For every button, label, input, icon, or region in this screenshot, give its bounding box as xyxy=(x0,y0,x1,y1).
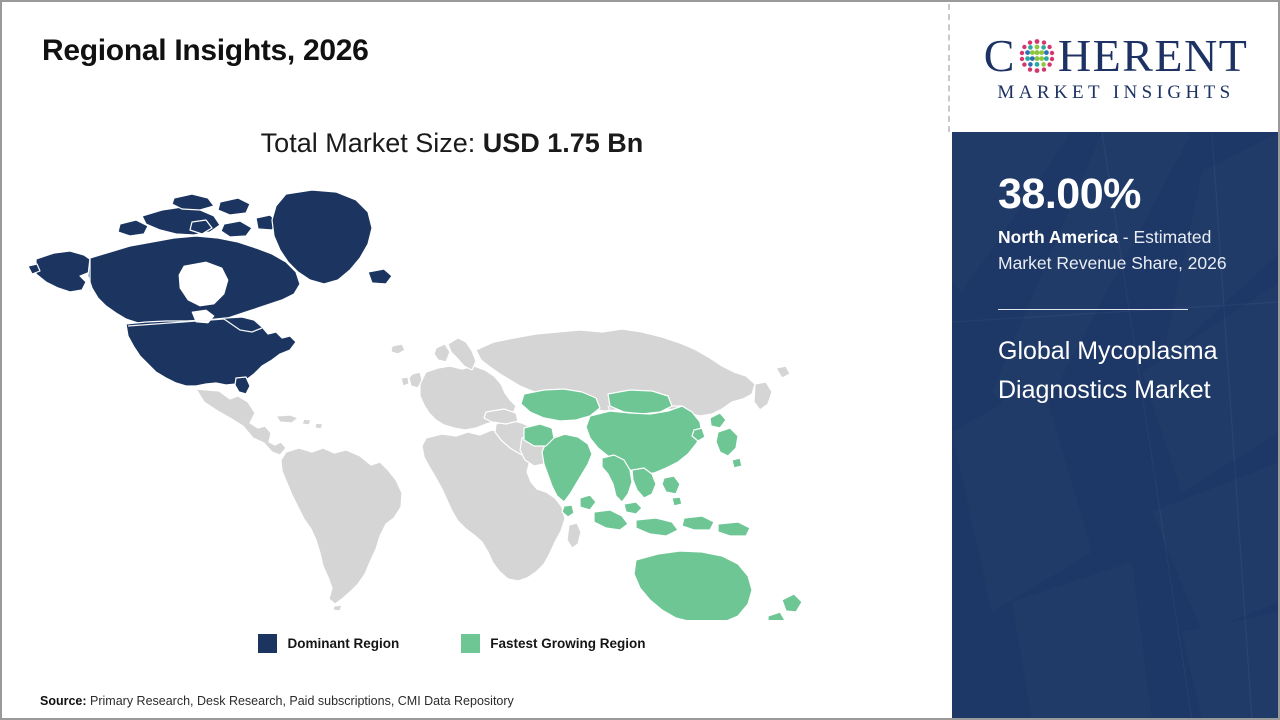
legend-label-dominant: Dominant Region xyxy=(287,636,399,651)
globe-dots-icon xyxy=(1017,36,1057,76)
infographic-frame: Regional Insights, 2026 Total Market Siz… xyxy=(0,0,1280,720)
revenue-share-description: North America - Estimated Market Revenue… xyxy=(998,225,1248,277)
highlight-panel: 38.00% North America - Estimated Market … xyxy=(952,132,1280,720)
logo-subtitle: MARKET INSIGHTS xyxy=(997,82,1234,104)
revenue-share-percentage: 38.00% xyxy=(998,172,1254,217)
total-market-size: Total Market Size: USD 1.75 Bn xyxy=(2,128,902,159)
world-map xyxy=(24,180,904,620)
page-title: Regional Insights, 2026 xyxy=(42,34,369,68)
market-size-value: USD 1.75 Bn xyxy=(483,128,644,158)
logo-wordmark: C xyxy=(984,33,1249,79)
source-text: Primary Research, Desk Research, Paid su… xyxy=(87,694,514,708)
logo-letters-herent: HERENT xyxy=(1058,33,1248,79)
left-content-area: Regional Insights, 2026 Total Market Siz… xyxy=(2,2,950,718)
legend-item-fastest-growing-region: Fastest Growing Region xyxy=(461,634,645,653)
panel-content: 38.00% North America - Estimated Market … xyxy=(952,132,1280,409)
panel-divider-rule xyxy=(998,309,1188,310)
market-report-title: Global Mycoplasma Diagnostics Market xyxy=(998,332,1228,410)
source-label: Source: xyxy=(40,694,87,708)
vertical-dashed-divider xyxy=(948,4,950,132)
world-map-svg xyxy=(24,180,904,620)
legend-item-dominant-region: Dominant Region xyxy=(258,634,399,653)
brand-logo: C xyxy=(952,4,1280,132)
legend-label-fastest-growing: Fastest Growing Region xyxy=(490,636,645,651)
revenue-share-region: North America xyxy=(998,227,1118,247)
map-legend: Dominant Region Fastest Growing Region xyxy=(2,634,902,653)
legend-swatch-dominant xyxy=(258,634,277,653)
logo-letter-c: C xyxy=(984,33,1016,79)
legend-swatch-fastest-growing xyxy=(461,634,480,653)
market-size-label: Total Market Size: xyxy=(261,128,483,158)
source-line: Source: Primary Research, Desk Research,… xyxy=(40,694,514,708)
map-region-asia-pacific xyxy=(521,389,802,620)
